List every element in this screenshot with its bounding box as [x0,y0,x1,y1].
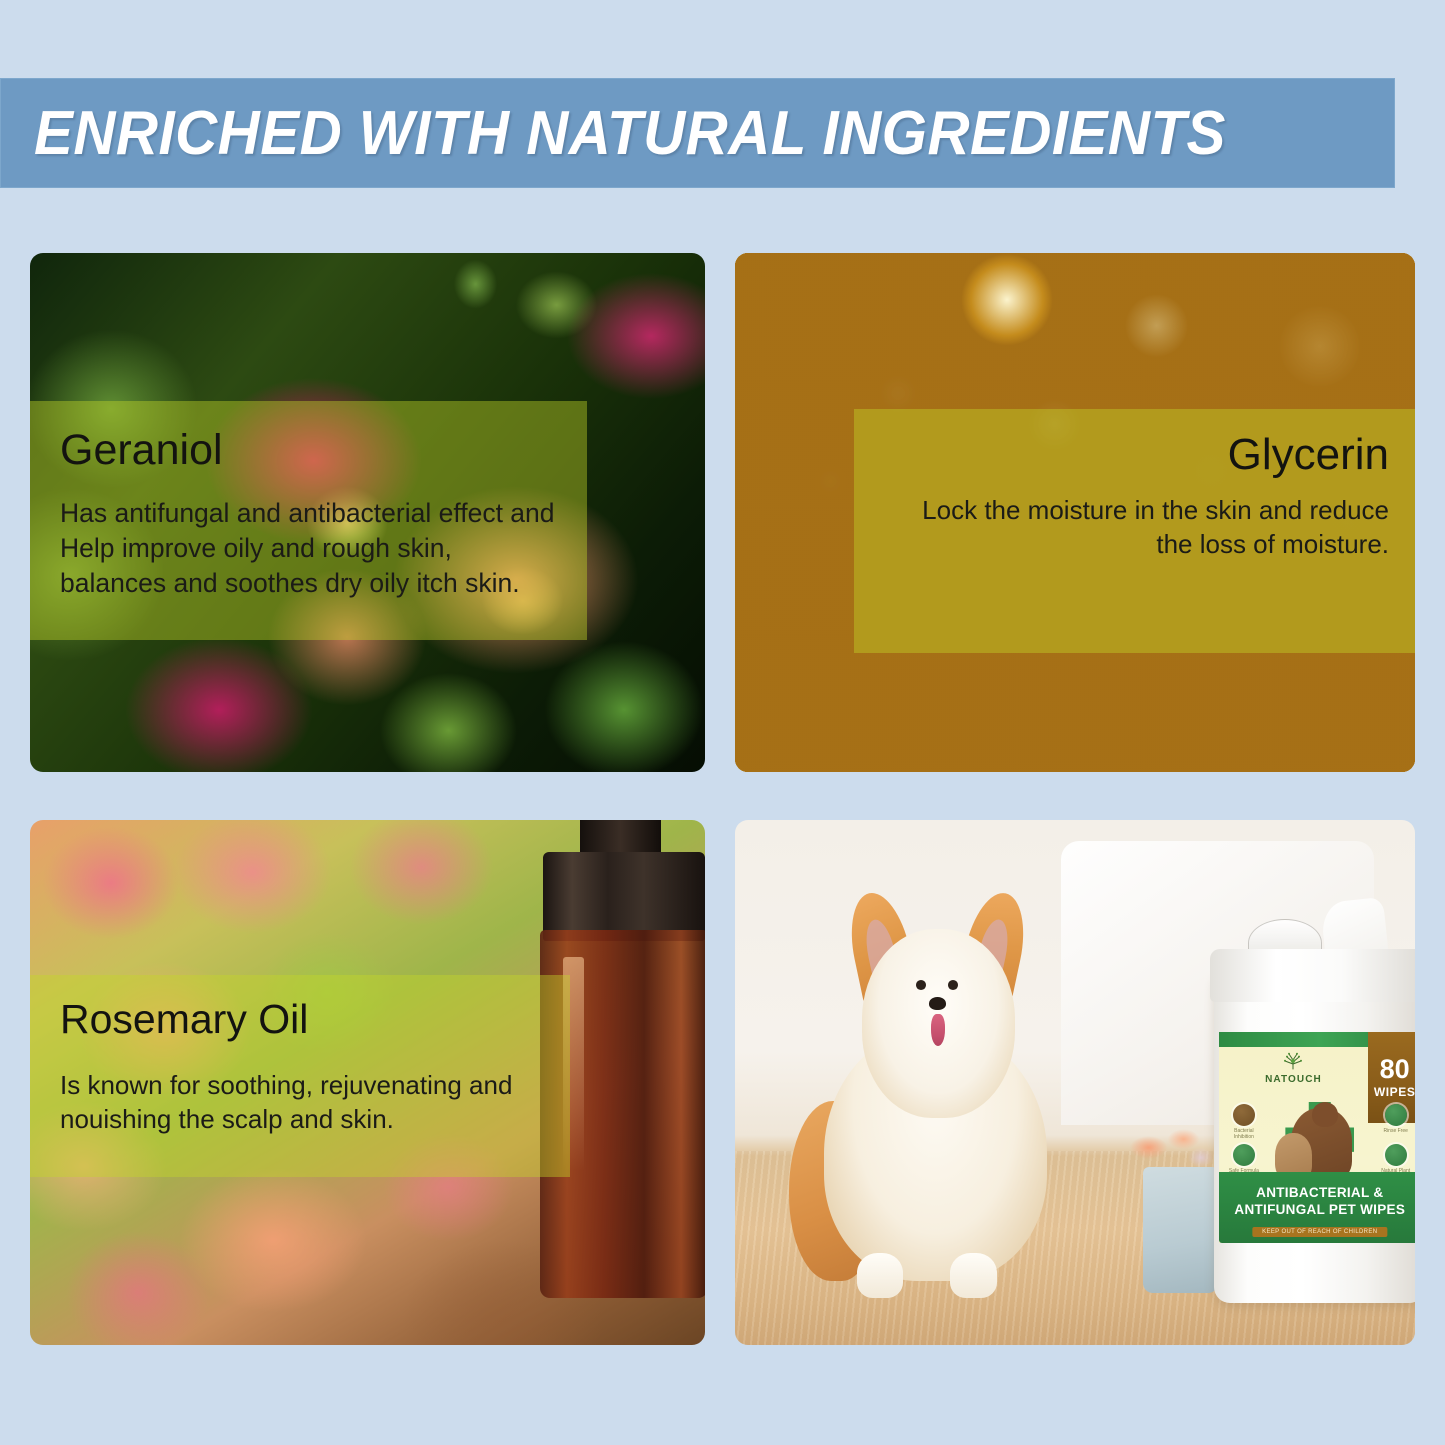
canister-lid [1210,949,1415,1002]
rosemary-description: Is known for soothing, rejuvenating and … [60,1068,540,1137]
glycerin-description: Lock the moisture in the skin and reduce… [880,493,1389,562]
badge-caption: Bacterial Inhibition [1225,1128,1263,1141]
corgi-paw-right [950,1253,997,1298]
tree-logo-icon [1280,1051,1306,1073]
ingredient-grid: Geraniol Has antifungal and antibacteria… [30,253,1415,1345]
glycerin-text-overlay: Glycerin Lock the moisture in the skin a… [854,409,1415,653]
panel-geraniol: Geraniol Has antifungal and antibacteria… [30,253,705,772]
wipes-count-unit: WIPES [1374,1085,1415,1099]
corgi-eye-left [916,980,927,990]
wipes-count-number: 80 [1380,1056,1410,1083]
geraniol-description: Has antifungal and antibacterial effect … [60,496,557,601]
brand-lockup: NATOUCH [1219,1051,1369,1085]
product-label: NATOUCH 80 WIPES Bacter [1219,1032,1415,1244]
corgi-paw-left [857,1253,904,1298]
badge-bacterial-inhibition: Bacterial Inhibition [1225,1104,1263,1141]
warning-text: KEEP OUT OF REACH OF CHILDREN [1252,1227,1387,1237]
badge-rinse-free: Rinse Free [1376,1104,1414,1134]
badge-caption: Rinse Free [1376,1128,1414,1134]
corgi-eye-right [948,980,959,990]
dog-silhouette-head [1312,1102,1338,1127]
badge-safe-formula: Safe Formula [1225,1144,1263,1174]
brand-name: NATOUCH [1219,1074,1369,1085]
wipes-canister: NATOUCH 80 WIPES Bacter [1214,972,1415,1303]
geraniol-text-overlay: Geraniol Has antifungal and antibacteria… [30,401,587,640]
product-scene-photo: NATOUCH 80 WIPES Bacter [735,820,1415,1345]
rosemary-text-overlay: Rosemary Oil Is known for soothing, reju… [30,975,570,1177]
corgi-head [862,929,1014,1117]
rosemary-title: Rosemary Oil [60,997,540,1042]
dropper-cap [543,852,705,941]
glycerin-title: Glycerin [880,431,1389,479]
corgi-nose [929,997,946,1010]
bacterial-inhibition-icon [1233,1104,1255,1126]
panel-product-photo: NATOUCH 80 WIPES Bacter [735,820,1415,1345]
header-banner: ENRICHED WITH NATURAL INGREDIENTS [0,78,1395,188]
panel-rosemary-oil: Rosemary Oil Is known for soothing, reju… [30,820,705,1345]
natural-plant-extracts-icon [1385,1144,1407,1166]
geraniol-title: Geraniol [60,427,557,474]
rinse-free-icon [1385,1104,1407,1126]
panel-glycerin: Glycerin Lock the moisture in the skin a… [735,253,1415,772]
flower-pot [1143,1167,1218,1293]
product-name-text: ANTIBACTERIAL & ANTIFUNGAL PET WIPES [1219,1185,1415,1218]
corgi-tongue [931,1014,945,1046]
safe-formula-icon [1233,1144,1255,1166]
corgi-dog [789,888,1081,1298]
page-title: ENRICHED WITH NATURAL INGREDIENTS [34,98,1226,169]
